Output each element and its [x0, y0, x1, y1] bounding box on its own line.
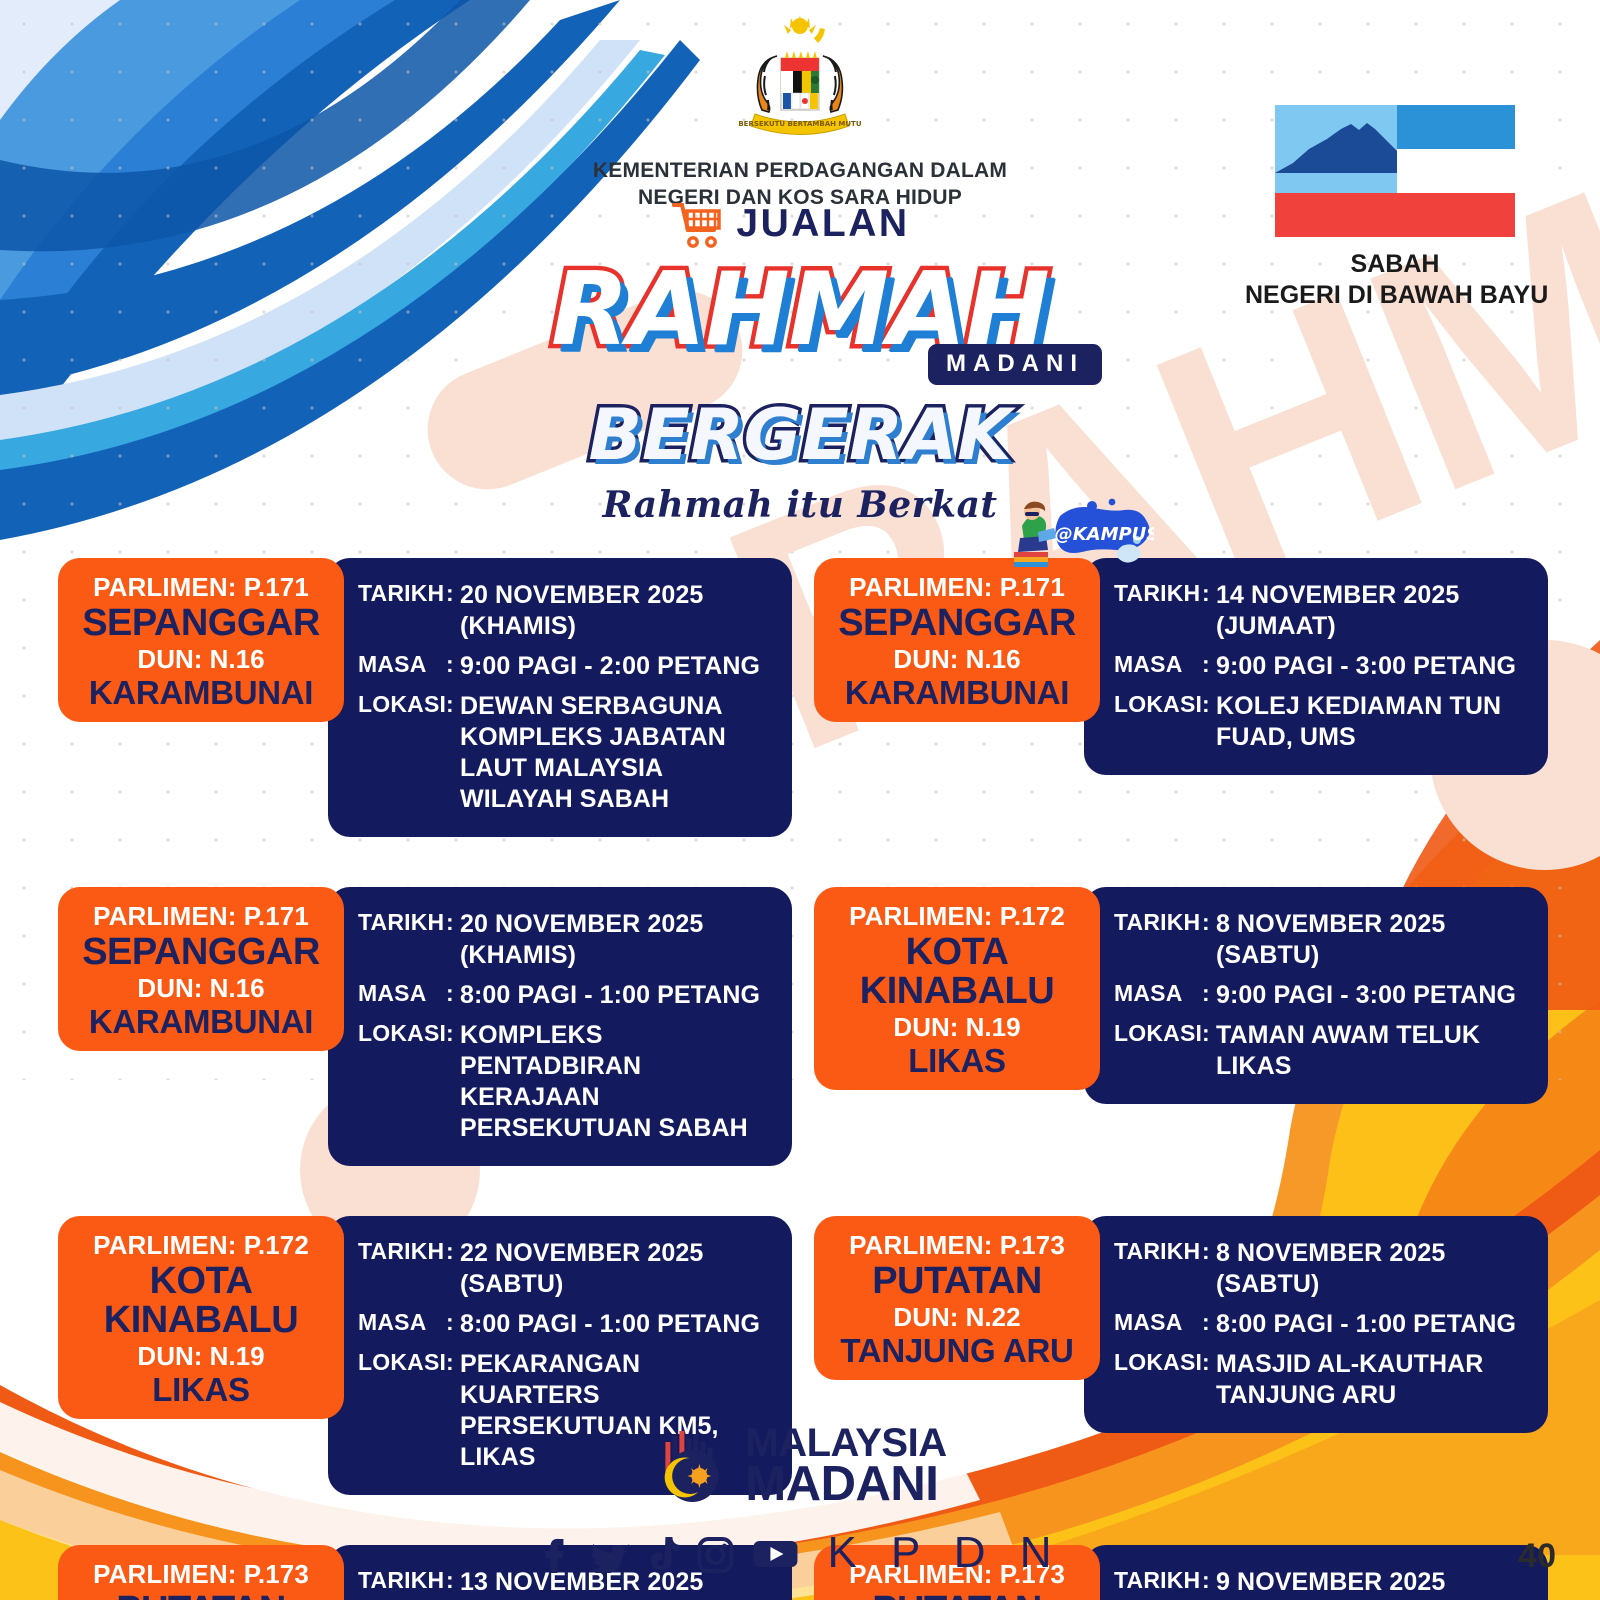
colon: :: [1202, 1309, 1216, 1336]
colon: :: [446, 651, 460, 678]
brand-line-2: MADANI: [745, 1462, 946, 1508]
parlimen-code: PARLIMEN: P.171: [68, 572, 334, 603]
lokasi-value: KOLEJ KEDIAMAN TUN FUAD, UMS: [1216, 691, 1524, 753]
tarikh-label: TARIKH: [1114, 1238, 1202, 1265]
parlimen-name: PUTATAN: [824, 1262, 1090, 1301]
schedule-card: PARLIMEN: P.172 KOTA KINABALU DUN: N.19 …: [814, 887, 1548, 1166]
parlimen-name: SEPANGGAR: [824, 604, 1090, 643]
madani-badge: MADANI: [928, 344, 1102, 385]
colon: :: [1202, 651, 1216, 678]
masa-value: 9:00 PAGI - 3:00 PETANG: [1216, 980, 1524, 1011]
dun-name: LIKAS: [824, 1044, 1090, 1079]
detail-row-lokasi: LOKASI : TAMAN AWAM TELUK LIKAS: [1114, 1020, 1524, 1082]
poster-footer: MALAYSIA MADANI K P D N: [0, 1370, 1600, 1600]
colon: :: [446, 1020, 460, 1047]
colon: :: [446, 1238, 460, 1265]
rahmah-logo: JUALAN RAHMAH RAHMAH MADANI BERGERAK BER…: [490, 196, 1110, 526]
state-motto: NEGERI DI BAWAH BAYU: [1245, 280, 1545, 311]
constituency-tag: PARLIMEN: P.171 SEPANGGAR DUN: N.16 KARA…: [58, 887, 344, 1051]
jualan-label: JUALAN: [736, 202, 909, 246]
tarikh-value: 20 NOVEMBER 2025 (KHAMIS): [460, 580, 768, 642]
colon: :: [1202, 1020, 1216, 1047]
detail-row-lokasi: LOKASI : KOLEJ KEDIAMAN TUN FUAD, UMS: [1114, 691, 1524, 753]
shopping-cart-icon: [672, 200, 722, 248]
colon: :: [1202, 580, 1216, 607]
masa-label: MASA: [358, 1309, 446, 1336]
masa-label: MASA: [358, 980, 446, 1007]
lokasi-value: DEWAN SERBAGUNA KOMPLEKS JABATAN LAUT MA…: [460, 691, 768, 815]
instagram-icon[interactable]: [695, 1533, 735, 1573]
dun-name: TANJUNG ARU: [824, 1334, 1090, 1369]
parlimen-name: SEPANGGAR: [68, 604, 334, 643]
social-links: K P D N: [537, 1528, 1062, 1578]
lokasi-value: TAMAN AWAM TELUK LIKAS: [1216, 1020, 1524, 1082]
kampus-badge-icon: @KAMPUS: [994, 496, 1154, 568]
svg-text:@KAMPUS: @KAMPUS: [1055, 524, 1154, 545]
dun-code: DUN: N.16: [824, 644, 1090, 675]
detail-row-masa: MASA : 8:00 PAGI - 1:00 PETANG: [358, 980, 768, 1011]
lokasi-label: LOKASI: [1114, 1020, 1202, 1047]
colon: :: [1202, 1238, 1216, 1265]
masa-label: MASA: [1114, 1309, 1202, 1336]
ministry-block: BERSEKUTU BERTAMBAH MUTU KEMENTERIAN PER…: [593, 14, 1007, 212]
malaysia-coat-of-arms-icon: BERSEKUTU BERTAMBAH MUTU: [725, 14, 875, 154]
lokasi-value: KOMPLEKS PENTADBIRAN KERAJAAN PERSEKUTUA…: [460, 1020, 768, 1144]
masa-label: MASA: [358, 651, 446, 678]
parlimen-name: SEPANGGAR: [68, 933, 334, 972]
dun-code: DUN: N.19: [824, 1012, 1090, 1043]
event-details: TARIKH : 20 NOVEMBER 2025 (KHAMIS) MASA …: [328, 558, 792, 837]
masa-value: 9:00 PAGI - 3:00 PETANG: [1216, 651, 1524, 682]
masa-label: MASA: [1114, 651, 1202, 678]
constituency-tag: PARLIMEN: P.171 SEPANGGAR DUN: N.16 KARA…: [814, 558, 1100, 722]
sabah-flag-icon: [1275, 105, 1515, 237]
bergerak-fill: BERGERAK: [490, 394, 1110, 476]
tarikh-value: 22 NOVEMBER 2025 (SABTU): [460, 1238, 768, 1300]
parlimen-code: PARLIMEN: P.173: [824, 1230, 1090, 1261]
colon: :: [446, 1309, 460, 1336]
constituency-tag: PARLIMEN: P.172 KOTA KINABALU DUN: N.19 …: [814, 887, 1100, 1090]
constituency-tag: PARLIMEN: P.171 SEPANGGAR DUN: N.16 KARA…: [58, 558, 344, 722]
detail-row-tarikh: TARIKH : 8 NOVEMBER 2025 (SABTU): [1114, 909, 1524, 971]
masa-label: MASA: [1114, 980, 1202, 1007]
poster-canvas: RAHMAH: [0, 0, 1600, 1600]
schedule-card: @KAMPUS PARLIMEN: P.171 SEPANGGAR DUN: N…: [814, 558, 1548, 837]
detail-row-masa: MASA : 9:00 PAGI - 3:00 PETANG: [1114, 980, 1524, 1011]
tarikh-value: 20 NOVEMBER 2025 (KHAMIS): [460, 909, 768, 971]
detail-row-tarikh: TARIKH : 8 NOVEMBER 2025 (SABTU): [1114, 1238, 1524, 1300]
tarikh-value: 8 NOVEMBER 2025 (SABTU): [1216, 909, 1524, 971]
lokasi-label: LOKASI: [358, 1020, 446, 1047]
dun-name: KARAMBUNAI: [68, 676, 334, 711]
tarikh-value: 14 NOVEMBER 2025 (JUMAAT): [1216, 580, 1524, 642]
schedule-card: PARLIMEN: P.171 SEPANGGAR DUN: N.16 KARA…: [58, 558, 792, 837]
youtube-icon[interactable]: [751, 1533, 799, 1573]
page-number: 40: [1518, 1537, 1556, 1576]
dun-code: DUN: N.16: [68, 973, 334, 1004]
detail-row-masa: MASA : 9:00 PAGI - 3:00 PETANG: [1114, 651, 1524, 682]
parlimen-code: PARLIMEN: P.172: [824, 901, 1090, 932]
state-caption: SABAH NEGERI DI BAWAH BAYU: [1245, 249, 1545, 312]
detail-row-tarikh: TARIKH : 22 NOVEMBER 2025 (SABTU): [358, 1238, 768, 1300]
colon: :: [446, 909, 460, 936]
dun-code: DUN: N.16: [68, 644, 334, 675]
dun-code: DUN: N.22: [824, 1302, 1090, 1333]
detail-row-lokasi: LOKASI : DEWAN SERBAGUNA KOMPLEKS JABATA…: [358, 691, 768, 815]
event-details: TARIKH : 8 NOVEMBER 2025 (SABTU) MASA : …: [1084, 887, 1548, 1104]
parlimen-name: KOTA KINABALU: [824, 933, 1090, 1011]
state-name: SABAH: [1245, 249, 1545, 280]
colon: :: [446, 980, 460, 1007]
detail-row-tarikh: TARIKH : 14 NOVEMBER 2025 (JUMAAT): [1114, 580, 1524, 642]
twitter-icon[interactable]: [587, 1533, 631, 1573]
parlimen-name: KOTA KINABALU: [68, 1262, 334, 1340]
brand-text: MALAYSIA MADANI: [745, 1425, 946, 1508]
masa-value: 9:00 PAGI - 2:00 PETANG: [460, 651, 768, 682]
svg-text:BERSEKUTU BERTAMBAH MUTU: BERSEKUTU BERTAMBAH MUTU: [738, 120, 861, 128]
dun-name: KARAMBUNAI: [824, 676, 1090, 711]
colon: :: [1202, 909, 1216, 936]
colon: :: [1202, 691, 1216, 718]
detail-row-masa: MASA : 8:00 PAGI - 1:00 PETANG: [1114, 1309, 1524, 1340]
tarikh-label: TARIKH: [1114, 580, 1202, 607]
masa-value: 8:00 PAGI - 1:00 PETANG: [460, 980, 768, 1011]
malaysia-madani-icon: [653, 1428, 731, 1506]
lokasi-label: LOKASI: [1114, 691, 1202, 718]
rahmah-wordmark: RAHMAH RAHMAH MADANI: [490, 250, 1110, 358]
tarikh-label: TARIKH: [358, 1238, 446, 1265]
tarikh-label: TARIKH: [358, 580, 446, 607]
parlimen-code: PARLIMEN: P.171: [824, 572, 1090, 603]
facebook-icon[interactable]: [537, 1533, 571, 1573]
social-handle: K P D N: [827, 1528, 1062, 1578]
dun-code: DUN: N.19: [68, 1341, 334, 1372]
event-details: TARIKH : 14 NOVEMBER 2025 (JUMAAT) MASA …: [1084, 558, 1548, 775]
colon: :: [446, 580, 460, 607]
detail-row-masa: MASA : 9:00 PAGI - 2:00 PETANG: [358, 651, 768, 682]
tiktok-icon[interactable]: [647, 1533, 679, 1573]
dun-name: KARAMBUNAI: [68, 1005, 334, 1040]
constituency-tag: PARLIMEN: P.173 PUTATAN DUN: N.22 TANJUN…: [814, 1216, 1100, 1380]
parlimen-code: PARLIMEN: P.172: [68, 1230, 334, 1261]
lokasi-label: LOKASI: [358, 691, 446, 718]
tarikh-label: TARIKH: [1114, 909, 1202, 936]
event-details: TARIKH : 20 NOVEMBER 2025 (KHAMIS) MASA …: [328, 887, 792, 1166]
state-block: SABAH NEGERI DI BAWAH BAYU: [1245, 105, 1545, 312]
detail-row-tarikh: TARIKH : 20 NOVEMBER 2025 (KHAMIS): [358, 580, 768, 642]
parlimen-code: PARLIMEN: P.171: [68, 901, 334, 932]
colon: :: [1202, 980, 1216, 1007]
detail-row-lokasi: LOKASI : KOMPLEKS PENTADBIRAN KERAJAAN P…: [358, 1020, 768, 1144]
schedule-card: PARLIMEN: P.171 SEPANGGAR DUN: N.16 KARA…: [58, 887, 792, 1166]
ministry-line-1: KEMENTERIAN PERDAGANGAN DALAM: [593, 158, 1007, 185]
tarikh-label: TARIKH: [358, 909, 446, 936]
colon: :: [446, 691, 460, 718]
tarikh-value: 8 NOVEMBER 2025 (SABTU): [1216, 1238, 1524, 1300]
masa-value: 8:00 PAGI - 1:00 PETANG: [1216, 1309, 1524, 1340]
masa-value: 8:00 PAGI - 1:00 PETANG: [460, 1309, 768, 1340]
bergerak-wordmark: BERGERAK BERGERAK: [490, 394, 1110, 470]
jualan-row: JUALAN: [472, 196, 1110, 252]
malaysia-madani-logo: MALAYSIA MADANI: [653, 1425, 946, 1508]
detail-row-masa: MASA : 8:00 PAGI - 1:00 PETANG: [358, 1309, 768, 1340]
detail-row-tarikh: TARIKH : 20 NOVEMBER 2025 (KHAMIS): [358, 909, 768, 971]
